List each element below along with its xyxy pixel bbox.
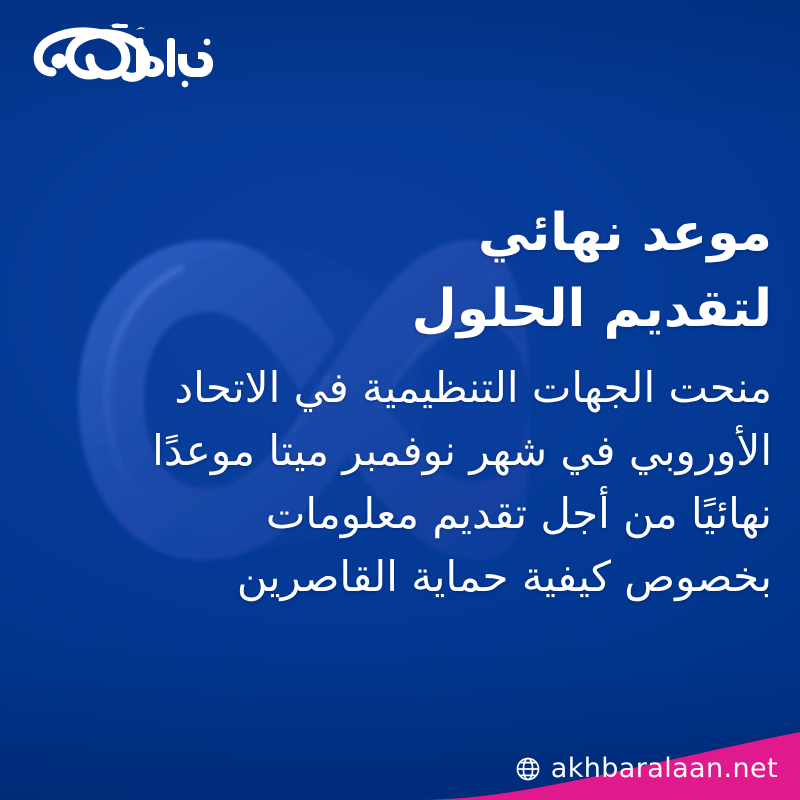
body-line-1: منحت الجهات التنظيمية في الاتحاد — [56, 356, 772, 419]
body-line-2: الأوروبي في شهر نوفمبر ميتا موعدًا — [56, 419, 772, 482]
card-content: موعد نهائي لتقديم الحلول منحت الجهات الت… — [56, 196, 772, 608]
body-line-4: بخصوص كيفية حماية القاصرين — [56, 545, 772, 608]
headline-line-2: لتقديم الحلول — [56, 272, 772, 348]
footer-brand[interactable]: akhbaralaan.net — [515, 755, 778, 782]
body-text: منحت الجهات التنظيمية في الاتحاد الأوروب… — [56, 356, 772, 608]
headline-line-1: موعد نهائي — [56, 196, 772, 272]
body-line-3: نهائيًا من أجل تقديم معلومات — [56, 482, 772, 545]
akhbar-alaan-logo[interactable] — [18, 16, 218, 96]
globe-icon — [515, 756, 541, 782]
site-url[interactable]: akhbaralaan.net — [551, 755, 778, 782]
headline: موعد نهائي لتقديم الحلول — [56, 196, 772, 348]
news-card: موعد نهائي لتقديم الحلول منحت الجهات الت… — [0, 0, 800, 800]
